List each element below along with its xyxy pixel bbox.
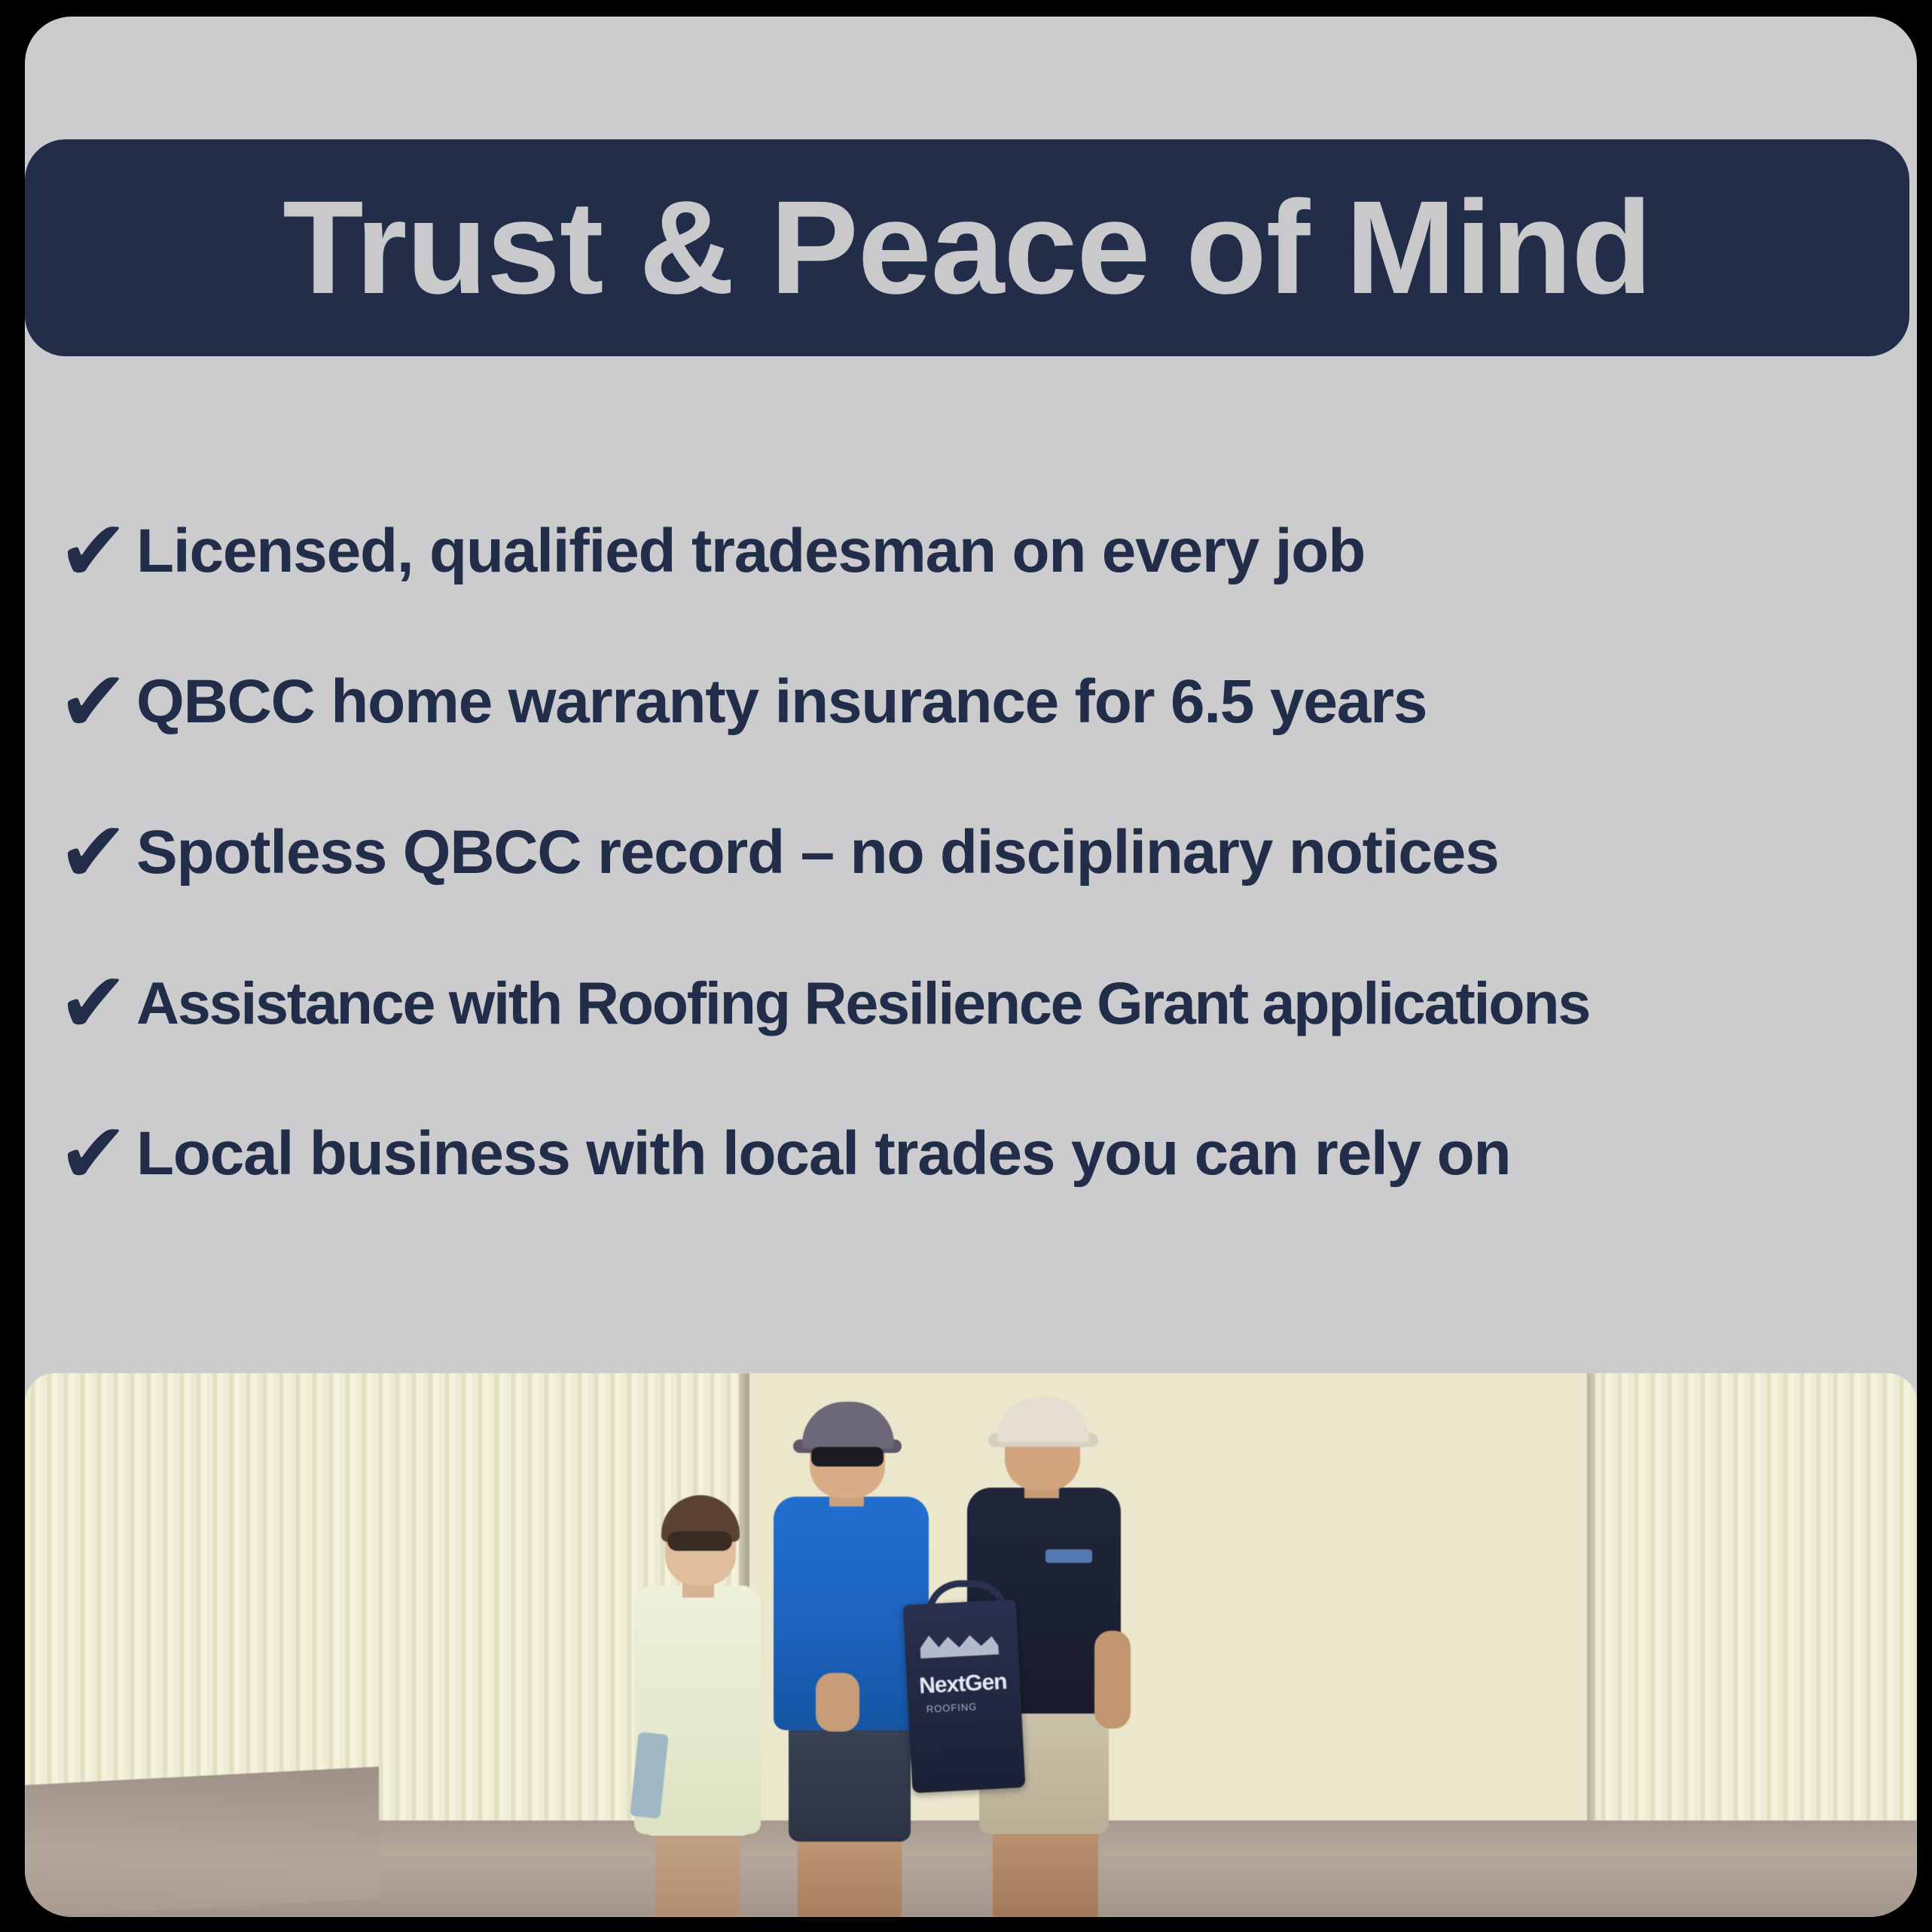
person-woman: [624, 1420, 774, 1917]
check-icon: ✔: [53, 810, 136, 895]
list-item-label: Local business with local trades you can…: [136, 1122, 1891, 1186]
list-item: ✔ Spotless QBCC record – no disciplinary…: [53, 800, 1891, 905]
screenshot-canvas: Trust & Peace of Mind ✔ Licensed, qualif…: [0, 0, 1932, 1932]
team-photo-scene: NextGen ROOFING: [25, 1373, 1917, 1917]
list-item-label: QBCC home warranty insurance for 6.5 yea…: [136, 670, 1891, 734]
bag-logo-icon: [920, 1632, 999, 1659]
check-icon: ✔: [53, 961, 136, 1045]
list-item-label: Licensed, qualified tradesman on every j…: [136, 519, 1891, 584]
sunglasses-icon: [811, 1447, 884, 1467]
check-icon: ✔: [53, 660, 136, 744]
list-item: ✔ Licensed, qualified tradesman on every…: [53, 499, 1891, 604]
driveway: [25, 1766, 379, 1917]
bag-brand-label: NextGen: [918, 1669, 1009, 1699]
list-item-label: Assistance with Roofing Resilience Grant…: [136, 972, 1891, 1035]
polo-logo: [1045, 1549, 1092, 1563]
check-icon: ✔: [53, 1112, 136, 1196]
sunglasses-icon: [667, 1531, 732, 1551]
cap-icon: [997, 1397, 1089, 1442]
trust-card: Trust & Peace of Mind ✔ Licensed, qualif…: [25, 17, 1917, 1917]
list-item-label: Spotless QBCC record – no disciplinary n…: [136, 820, 1891, 885]
header-banner: Trust & Peace of Mind: [25, 139, 1909, 356]
bag-tagline-label: ROOFING: [926, 1699, 1003, 1714]
check-icon: ✔: [53, 509, 136, 594]
list-item: ✔ Assistance with Roofing Resilience Gra…: [53, 951, 1891, 1056]
benefits-list: ✔ Licensed, qualified tradesman on every…: [53, 499, 1891, 1252]
list-item: ✔ Local business with local trades you c…: [53, 1101, 1891, 1207]
page-title: Trust & Peace of Mind: [282, 182, 1652, 314]
team-photo: NextGen ROOFING: [25, 1373, 1917, 1917]
blue-arm: [816, 1673, 859, 1732]
cap-icon: [802, 1402, 894, 1448]
branded-tote-bag: NextGen ROOFING: [903, 1599, 1026, 1793]
list-item: ✔ QBCC home warranty insurance for 6.5 y…: [53, 649, 1891, 755]
navy-arm: [1094, 1631, 1131, 1729]
blue-shorts: [789, 1714, 911, 1842]
